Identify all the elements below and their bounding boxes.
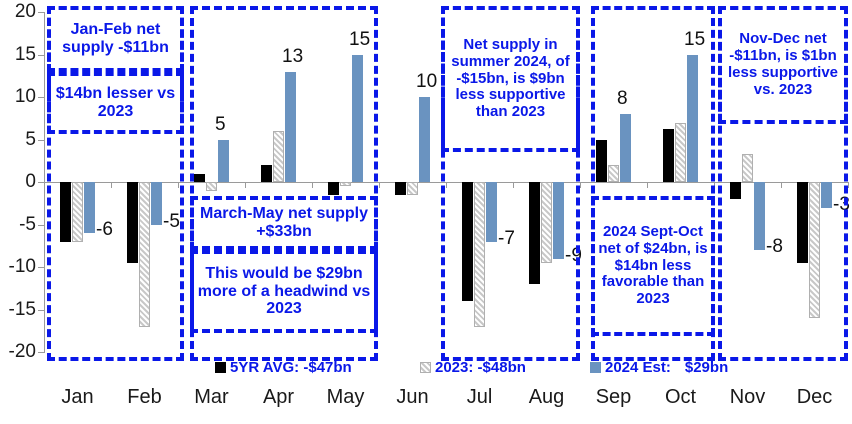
chart-container: 20151050-5-10-15-20 -6-55131510-7-9815-8… [0, 0, 852, 424]
legend-label: 2023: [435, 359, 473, 376]
x-axis-label-mar: Mar [194, 386, 228, 409]
y-axis-tick-label: 0 [0, 171, 36, 193]
x-axis-label-jun: Jun [396, 386, 428, 409]
y-axis-tick-label: 10 [0, 86, 36, 108]
x-axis-label-jul: Jul [467, 386, 493, 409]
x-axis-label-may: May [327, 386, 365, 409]
square-swatch-black [215, 362, 226, 373]
bar-2023-jun [407, 182, 418, 195]
legend-value: -$48bn [478, 359, 526, 376]
y-axis-tick-label: -5 [0, 214, 36, 236]
square-swatch-hatch [420, 362, 431, 373]
y-axis-tick-mark [38, 267, 45, 268]
callout-summer-net: Net supply in summer 2024, of -$15bn, is… [441, 6, 580, 152]
x-axis-tick-mark [848, 182, 849, 188]
square-swatch-blue [590, 362, 601, 373]
bar-2024-est-jun [419, 97, 430, 182]
y-axis-tick-mark [38, 55, 45, 56]
x-axis-label-oct: Oct [665, 386, 696, 409]
x-axis-tick-mark [580, 182, 581, 188]
y-axis-tick-label: 20 [0, 1, 36, 23]
legend-label: 5YR AVG: [230, 359, 299, 376]
y-axis-tick-label: 5 [0, 129, 36, 151]
x-axis-label-dec: Dec [797, 386, 833, 409]
x-axis-label-aug: Aug [529, 386, 565, 409]
bar-5yr-avg-jun [395, 182, 406, 195]
legend-value: $29bn [685, 359, 728, 376]
x-axis-label-nov: Nov [730, 386, 766, 409]
callout-jan-feb-delta: $14bn lesser vs 2023 [47, 72, 184, 134]
y-axis-tick-label: -10 [0, 256, 36, 278]
y-axis-tick-mark [38, 310, 45, 311]
legend-item-2[interactable]: 2023: -$48bn [420, 359, 526, 376]
y-axis-tick-mark [38, 140, 45, 141]
y-axis-tick-mark [38, 12, 45, 13]
callout-mar-may-delta: This would be $29bn more of a headwind v… [190, 250, 378, 333]
x-axis-label-sep: Sep [596, 386, 632, 409]
chart-legend: 5YR AVG: -$47bn2023: -$48bn2024 Est:$29b… [0, 359, 852, 381]
x-axis-label-apr: Apr [263, 386, 294, 409]
y-axis-tick-mark [38, 225, 45, 226]
legend-item-1[interactable]: 5YR AVG: -$47bn [215, 359, 352, 376]
x-axis-tick-mark [379, 182, 380, 188]
y-axis-tick-label: -15 [0, 299, 36, 321]
callout-jan-feb-net: Jan-Feb net supply -$11bn [47, 6, 184, 72]
y-axis-tick-mark [38, 352, 45, 353]
y-axis-tick-label: 15 [0, 44, 36, 66]
y-axis-tick-mark [38, 97, 45, 98]
x-axis-label-feb: Feb [127, 386, 161, 409]
callout-mar-may-net: March-May net supply +$33bn [190, 196, 378, 250]
legend-item-3[interactable]: 2024 Est:$29bn [590, 359, 728, 376]
x-axis-label-jan: Jan [61, 386, 93, 409]
callout-nov-dec-net: Nov-Dec net -$11bn, is $1bn less support… [718, 6, 848, 124]
data-label-jun: 10 [416, 71, 437, 93]
legend-label: 2024 Est: [605, 359, 671, 376]
callout-sep-oct-net: 2024 Sept-Oct net of $24bn, is $14bn les… [591, 196, 715, 336]
legend-value: -$47bn [303, 359, 351, 376]
